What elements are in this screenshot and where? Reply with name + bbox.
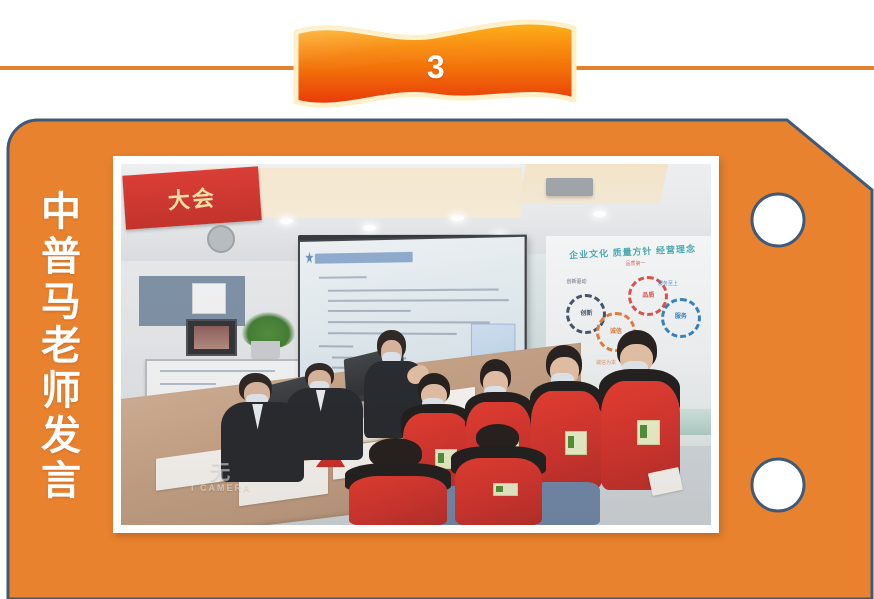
potted-plant-pot [251,341,281,359]
wall-clock [207,225,235,253]
title-char-4: 老 [41,324,81,369]
vest-4-badge [637,420,660,445]
vest-3-badge-accent [568,436,574,448]
slide-text-line-3 [328,299,509,302]
title-char-7: 言 [41,459,81,504]
wall-sign [192,283,226,314]
title-char-1: 中 [41,190,81,235]
slide-text-line-2 [328,288,499,291]
slide-star-icon [305,252,313,264]
title-char-6: 发 [41,414,81,459]
punch-hole-top [752,194,804,246]
meeting-photo: 大会 [121,164,711,525]
title-char-5: 师 [41,369,81,414]
punch-hole-bottom [752,459,804,511]
slide-canvas: 3 中 普 马 老 师 发 言 [0,0,874,599]
gear-caption-3: 品质第一 [625,260,645,267]
vest-4-badge-accent [640,425,647,438]
slide-text-line-1 [319,276,366,279]
foreground-vest [349,476,447,525]
slide-vertical-title: 中 普 马 老 师 发 言 [30,190,92,510]
vest-front-badge-accent [496,486,503,492]
gear-caption-1: 创新驱动 [566,278,586,285]
red-banner: 大会 [122,167,261,230]
wall-picture-frame [186,319,237,355]
slide-heading-bar [315,251,413,263]
vest-front-badge [493,483,518,496]
ceiling-light-6 [593,211,606,217]
ceiling-projector [546,178,593,196]
attendee-vest-front [451,424,545,525]
slide-text-line-4 [328,310,411,312]
vest-3-badge [565,431,587,455]
gear-caption-4: 服务至上 [658,280,678,287]
photo-frame: 大会 [113,156,719,533]
red-banner-text: 大会 [122,167,261,230]
title-char-2: 普 [41,235,81,280]
ceiling-light-4 [451,215,464,221]
wall-picture-image [194,326,230,349]
vest-4-handout [648,467,684,496]
ceiling-panel-right [518,164,668,204]
section-number-banner: 3 [274,14,594,120]
slide-text-line-7 [319,345,353,347]
whiteboard-line-1 [160,370,276,372]
attendee-vest-4 [599,330,682,525]
whiteboard-line-2 [160,383,216,385]
title-char-3: 马 [41,280,81,325]
slide-text-line-5 [328,321,490,323]
attendee-foreground [345,438,451,525]
banner-flag-icon [274,14,594,120]
